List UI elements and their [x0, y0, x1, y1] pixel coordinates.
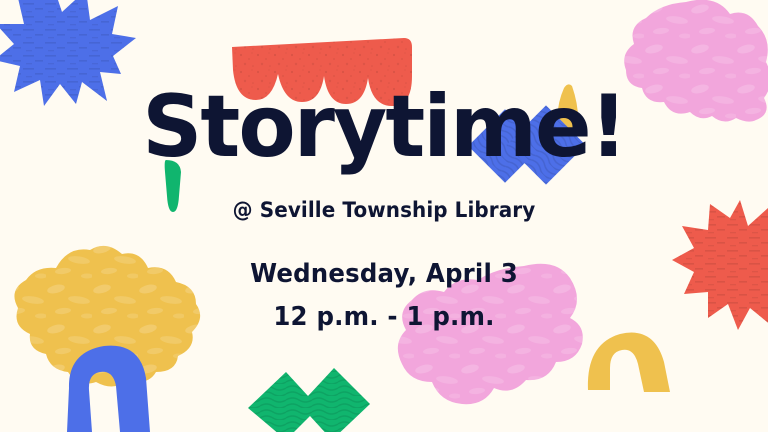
- yellow-arch-bottom-right-icon: [588, 333, 670, 392]
- pink-cloud-top-right-icon: [624, 0, 768, 122]
- red-starburst-right-icon: [672, 200, 768, 330]
- red-scalloped-banner-icon: [232, 38, 412, 106]
- blue-starburst-top-left-icon: [0, 0, 136, 106]
- green-drip-icon: [165, 160, 181, 212]
- pink-blob-bottom-center-icon: [398, 264, 583, 404]
- decoration-layer: [0, 0, 768, 432]
- blue-arch-bottom-left-icon: [67, 346, 150, 432]
- storytime-poster: Storytime! @ Seville Township Library We…: [0, 0, 768, 432]
- green-zigzag-bottom-center-icon: [248, 368, 370, 432]
